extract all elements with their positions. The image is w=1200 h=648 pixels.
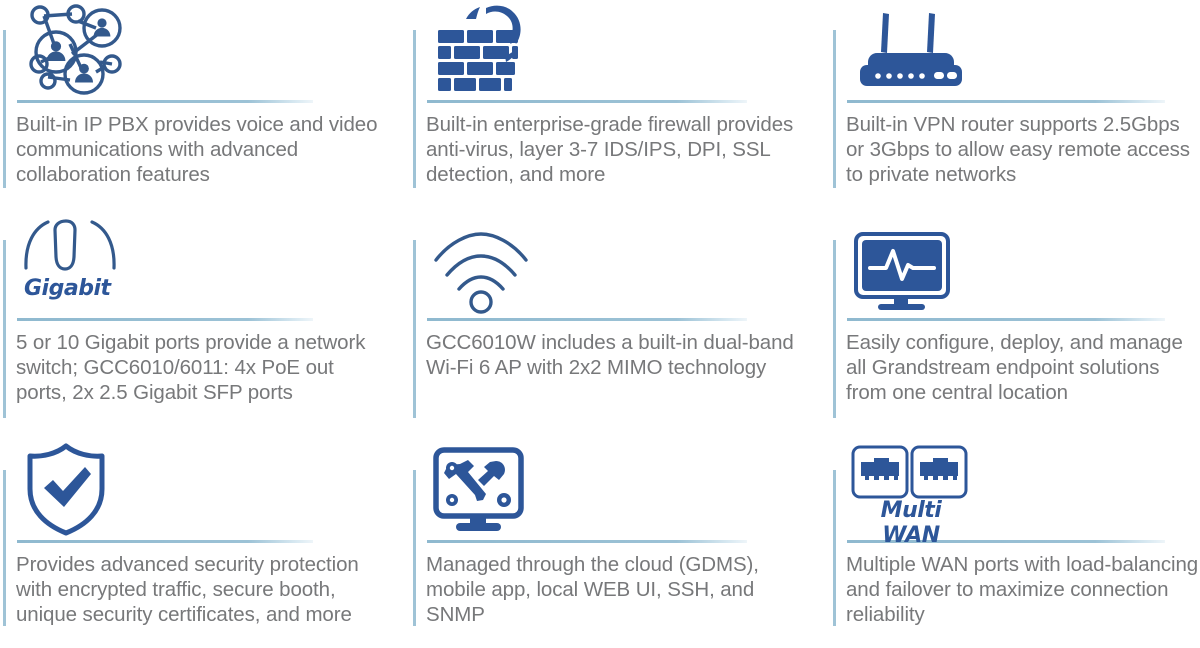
feature-card-central-management: Easily configure, deploy, and manage all… <box>830 210 1200 440</box>
accent-vertical-rule <box>413 30 416 188</box>
network-users-icon <box>20 2 124 96</box>
icon-container <box>16 0 410 96</box>
wifi-icon <box>430 232 532 314</box>
shield-check-icon <box>20 442 112 536</box>
feature-description: Managed through the cloud (GDMS), mobile… <box>426 552 798 627</box>
icon-container <box>426 0 830 96</box>
accent-vertical-rule <box>3 240 6 418</box>
feature-description: Built-in VPN router supports 2.5Gbps or … <box>846 112 1200 187</box>
feature-description: Built-in enterprise-grade firewall provi… <box>426 112 798 187</box>
accent-horizontal-rule <box>847 100 1165 103</box>
accent-vertical-rule <box>413 240 416 418</box>
feature-description: Easily configure, deploy, and manage all… <box>846 330 1200 405</box>
icon-container: Gigabit <box>16 210 410 314</box>
feature-card-multi-wan: Multi WAN Multiple WAN ports with load-b… <box>830 440 1200 648</box>
feature-card-gigabit-ports: Gigabit 5 or 10 Gigabit ports provide a … <box>0 210 410 440</box>
accent-vertical-rule <box>833 240 836 418</box>
feature-card-wifi6: GCC6010W includes a built-in dual-band W… <box>410 210 830 440</box>
accent-horizontal-rule <box>427 540 747 543</box>
accent-horizontal-rule <box>17 318 313 321</box>
feature-description: Built-in IP PBX provides voice and video… <box>16 112 388 187</box>
icon-container <box>426 440 830 536</box>
accent-horizontal-rule <box>847 318 1165 321</box>
feature-card-vpn-router: Built-in VPN router supports 2.5Gbps or … <box>830 0 1200 210</box>
feature-description: Multiple WAN ports with load-balancing a… <box>846 552 1200 627</box>
feature-card-security: Provides advanced security protection wi… <box>0 440 410 648</box>
feature-grid: Built-in IP PBX provides voice and video… <box>0 0 1200 648</box>
firewall-globe-icon <box>430 4 538 96</box>
icon-container: Multi WAN <box>846 440 1200 536</box>
feature-description: Provides advanced security protection wi… <box>16 552 388 627</box>
multi-wan-ports-icon <box>850 444 1200 500</box>
accent-vertical-rule <box>833 470 836 626</box>
feature-description: GCC6010W includes a built-in dual-band W… <box>426 330 798 380</box>
feature-card-cloud-management: Managed through the cloud (GDMS), mobile… <box>410 440 830 648</box>
icon-container <box>16 440 410 536</box>
accent-horizontal-rule <box>17 100 313 103</box>
feature-description: 5 or 10 Gigabit ports provide a network … <box>16 330 388 405</box>
accent-vertical-rule <box>833 30 836 188</box>
icon-container <box>426 210 830 314</box>
accent-horizontal-rule <box>17 540 313 543</box>
gigabit-logo-icon <box>20 216 410 274</box>
accent-vertical-rule <box>3 30 6 188</box>
feature-card-ip-pbx: Built-in IP PBX provides voice and video… <box>0 0 410 210</box>
icon-container <box>846 0 1200 96</box>
monitor-pulse-icon <box>850 230 954 314</box>
router-icon <box>850 4 972 96</box>
accent-horizontal-rule <box>427 100 747 103</box>
gigabit-wordmark: Gigabit <box>20 276 410 301</box>
accent-vertical-rule <box>3 470 6 626</box>
accent-horizontal-rule <box>427 318 747 321</box>
accent-vertical-rule <box>413 470 416 626</box>
feature-card-firewall: Built-in enterprise-grade firewall provi… <box>410 0 830 210</box>
icon-container <box>846 210 1200 314</box>
monitor-tools-icon <box>430 446 530 536</box>
